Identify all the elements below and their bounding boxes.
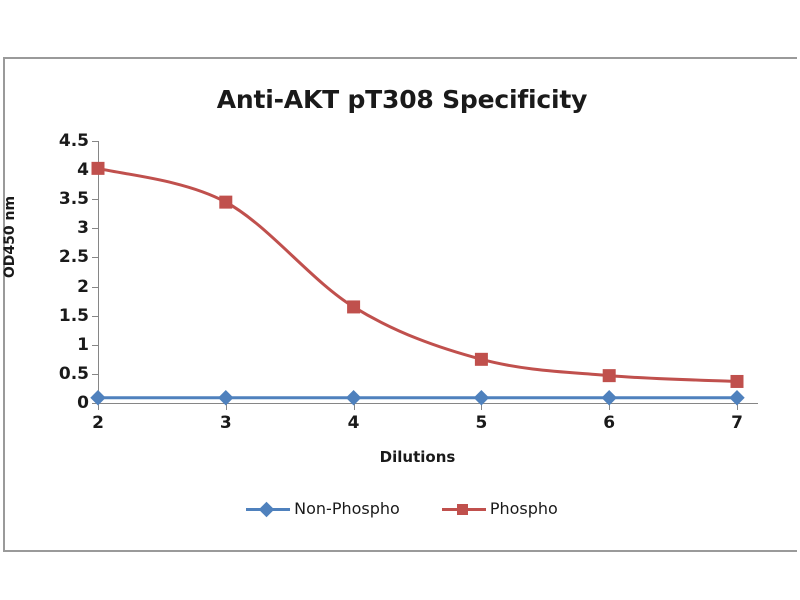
y-tick-label: 2	[77, 277, 89, 297]
series-line-phospho	[98, 168, 737, 381]
x-tick-label: 2	[92, 413, 104, 433]
data-point-marker	[602, 391, 616, 405]
y-tick-label: 1.5	[59, 306, 89, 326]
chart-screenshot: Anti-AKT pT308 Specificity OD450 nm Dilu…	[0, 0, 800, 600]
plot-area	[98, 141, 737, 403]
x-tick-label: 5	[475, 413, 487, 433]
y-tick-label: 3.5	[59, 189, 89, 209]
legend-entry-phospho[interactable]: Phospho	[442, 499, 558, 518]
data-point-marker	[348, 301, 360, 313]
data-point-marker	[731, 375, 743, 387]
y-axis-title: OD450 nm	[2, 196, 18, 278]
x-tick-label: 7	[731, 413, 743, 433]
data-point-marker	[603, 370, 615, 382]
y-tick-label: 0.5	[59, 364, 89, 384]
y-tick-label: 3	[77, 218, 89, 238]
legend-diamond-marker-icon	[246, 501, 290, 517]
chart-legend: Non-PhosphoPhospho	[5, 499, 799, 518]
legend-label: Phospho	[490, 499, 558, 518]
legend-label: Non-Phospho	[294, 499, 400, 518]
data-point-marker	[220, 196, 232, 208]
x-tick-label: 4	[348, 413, 360, 433]
data-point-marker	[92, 162, 104, 174]
y-tick-label: 2.5	[59, 247, 89, 267]
y-tick-label: 4.5	[59, 131, 89, 151]
x-tick-label: 3	[220, 413, 232, 433]
data-point-marker	[347, 391, 361, 405]
legend-square-marker-icon	[442, 501, 486, 517]
y-tick-label: 1	[77, 335, 89, 355]
x-axis-title: Dilutions	[98, 448, 737, 466]
y-tick-label: 4	[77, 160, 89, 180]
legend-entry-non-phospho[interactable]: Non-Phospho	[246, 499, 400, 518]
data-point-marker	[219, 391, 233, 405]
y-tick-label: 0	[77, 393, 89, 413]
data-point-marker	[475, 353, 487, 365]
x-tick-label: 6	[603, 413, 615, 433]
chart-title: Anti-AKT pT308 Specificity	[5, 85, 799, 114]
series-plot	[98, 141, 737, 403]
data-point-marker	[474, 391, 488, 405]
x-axis-line	[98, 403, 758, 404]
chart-frame: Anti-AKT pT308 Specificity OD450 nm Dilu…	[3, 57, 797, 552]
